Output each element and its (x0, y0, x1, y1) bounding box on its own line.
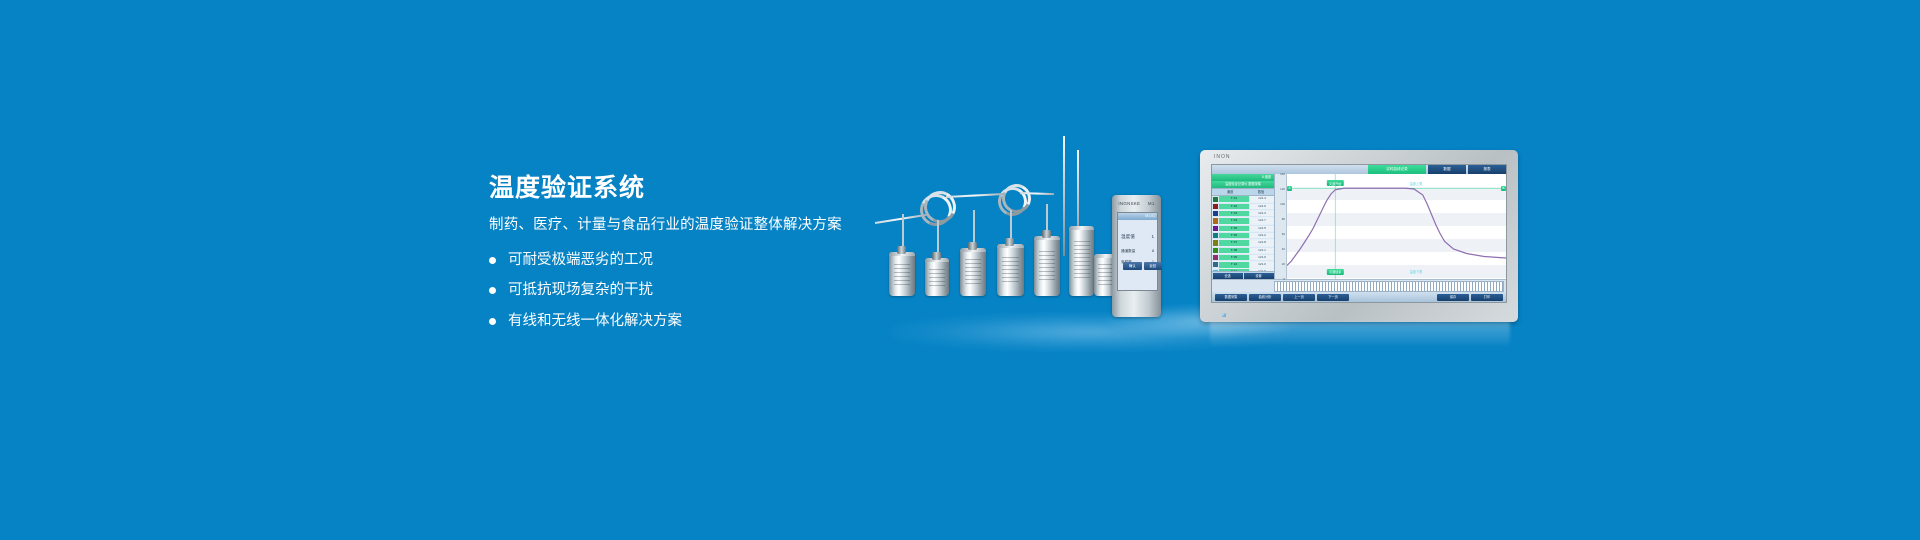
logger-label (1074, 241, 1090, 277)
channel-table-footer: 全选 设置 (1212, 271, 1274, 279)
data-logger-device (1069, 226, 1094, 296)
logger-cap (1005, 238, 1014, 246)
model-text: M1 (1148, 201, 1155, 206)
sensor-wire (875, 214, 927, 224)
table-row[interactable]: T 01121.4 (1212, 196, 1274, 203)
monitor-reflection (1210, 322, 1510, 348)
table-row[interactable]: T 03121.3 (1212, 211, 1274, 218)
sensor-wire (946, 193, 1004, 198)
handheld-button-row: 确认 返回 (1123, 262, 1162, 270)
handheld-readout-list: 温度值 1 通道数量 8 采样率 1 (1118, 220, 1157, 265)
software-body: 8 通道 温度验证记录仪 数据采集 通道 数值 T 01121.4T 02121… (1212, 174, 1506, 279)
channel-color-swatch (1213, 233, 1218, 238)
settings-button[interactable]: 设置 (1244, 273, 1274, 279)
feature-list: 可耐受极端恶劣的工况 可抵抗现场复杂的干扰 有线和无线一体化解决方案 (489, 252, 909, 330)
table-row[interactable]: T 02121.6 (1212, 203, 1274, 210)
channel-value-cell: 121.2 (1250, 233, 1274, 238)
data-logger-device (997, 244, 1024, 296)
monitor-screen: 实时曲线记录 数据 报表 8 通道 温度验证记录仪 数据采集 通道 数值 T 0… (1211, 164, 1507, 303)
tab-report[interactable]: 报表 (1468, 165, 1506, 174)
marker-point-b[interactable]: B (1501, 186, 1506, 191)
table-row[interactable]: T 09121.9 (1212, 254, 1274, 261)
channel-color-swatch (1213, 204, 1218, 209)
readout-label: 通道数量 (1121, 249, 1135, 254)
channel-value-cell: 121.0 (1250, 262, 1274, 267)
y-axis-tick: 100 (1280, 202, 1285, 206)
readout-value: 1 (1151, 234, 1154, 240)
channel-table-header: 8 通道 (1212, 174, 1274, 181)
feature-label: 有线和无线一体化解决方案 (508, 313, 682, 330)
channel-color-swatch (1213, 211, 1218, 216)
lower-limit-label: 温度下限 (1410, 269, 1423, 274)
channel-color-swatch (1213, 248, 1218, 253)
bullet-dot-icon (489, 287, 496, 294)
marker-point-a[interactable]: A (1287, 186, 1292, 191)
channel-value-cell: 121.6 (1250, 204, 1274, 209)
channel-value-cell: 121.5 (1250, 226, 1274, 231)
channel-color-swatch (1213, 218, 1218, 223)
y-axis-tick: 80 (1282, 217, 1285, 221)
list-item: 通道数量 8 (1121, 249, 1154, 254)
channel-value-cell: 121.4 (1250, 196, 1274, 201)
page-title: 温度验证系统 (489, 175, 909, 203)
plot-area[interactable]: 灭菌开始 灭菌结束 温度上限 温度下限 A B (1287, 174, 1506, 279)
channel-name-cell: T 10 (1219, 262, 1249, 267)
data-logger-device (960, 248, 986, 296)
logger-label (894, 262, 911, 285)
channel-color-swatch (1213, 262, 1218, 267)
upper-limit-label: 温度上限 (1410, 181, 1423, 186)
sterilization-end-marker[interactable]: 灭菌结束 (1327, 269, 1343, 275)
select-all-button[interactable]: 全选 (1213, 273, 1243, 279)
handheld-titlebar-label: M1-01 (1145, 214, 1155, 218)
channel-value-cell: 121.8 (1250, 240, 1274, 245)
channel-color-swatch (1213, 255, 1218, 260)
list-item: 有线和无线一体化解决方案 (489, 313, 909, 330)
table-row[interactable]: T 04121.7 (1212, 218, 1274, 225)
bullet-dot-icon (489, 257, 496, 264)
channel-table-columns: 通道 数值 (1212, 188, 1274, 196)
table-row[interactable]: T 08121.1 (1212, 247, 1274, 254)
data-logger-device (1034, 236, 1060, 296)
logger-cap (1042, 230, 1051, 238)
channel-value-cell: 121.3 (1250, 211, 1274, 216)
brand-text: INGNSKE (1118, 201, 1140, 206)
print-button[interactable]: 打印 (1471, 294, 1503, 301)
temperature-curve-svg (1287, 174, 1506, 279)
sterilization-start-marker[interactable]: 灭菌开始 (1327, 180, 1343, 186)
channel-name-cell: T 03 (1219, 211, 1249, 216)
channel-name-cell: T 07 (1219, 240, 1249, 245)
logger-label (965, 259, 982, 284)
readout-label: 温度值 (1121, 234, 1135, 240)
timeline-scrollbar[interactable] (1212, 279, 1506, 292)
table-row[interactable]: T 06121.2 (1212, 232, 1274, 239)
logger-cap (968, 242, 977, 250)
channel-table: 8 通道 温度验证记录仪 数据采集 通道 数值 T 01121.4T 02121… (1212, 174, 1275, 279)
y-axis-tick: 140 (1280, 172, 1285, 176)
handheld-titlebar: M1-01 (1118, 213, 1157, 220)
y-axis-tick: 40 (1282, 247, 1285, 251)
y-axis-tick: 20 (1282, 262, 1285, 266)
handheld-back-button[interactable]: 返回 (1144, 262, 1163, 270)
list-item: 温度值 1 (1121, 234, 1154, 240)
y-axis-tick: 120 (1280, 187, 1285, 191)
channel-table-rows: T 01121.4T 02121.6T 03121.3T 04121.7T 05… (1212, 196, 1274, 271)
channel-value-cell: 121.9 (1250, 255, 1274, 260)
bullet-dot-icon (489, 318, 496, 325)
list-item: 可耐受极端恶劣的工况 (489, 252, 909, 269)
logger-label (929, 266, 944, 286)
software-bottombar: 数据采集 曲线分析 上一页 下一页 保存 打印 (1212, 292, 1506, 302)
handheld-confirm-button[interactable]: 确认 (1123, 262, 1142, 270)
column-header-channel: 通道 (1212, 189, 1248, 195)
product-cluster: INGNSKE M1 M1-01 温度值 1 通道数量 8 (880, 130, 1520, 430)
channel-name-cell: T 06 (1219, 233, 1249, 238)
logger-cap (932, 252, 941, 260)
table-row[interactable]: T 10121.0 (1212, 262, 1274, 269)
channel-table-subtitle: 温度验证记录仪 数据采集 (1212, 181, 1274, 188)
channel-name-cell: T 05 (1219, 226, 1249, 231)
logger-label (1098, 263, 1113, 285)
table-row[interactable]: T 05121.5 (1212, 225, 1274, 232)
software-topbar: 实时曲线记录 数据 报表 (1212, 165, 1506, 174)
list-item: 可抵抗现场复杂的干扰 (489, 282, 909, 299)
handheld-brand-label: INGNSKE M1 (1112, 201, 1161, 206)
hero-banner: 温度验证系统 制药、医疗、计量与食品行业的温度验证整体解决方案 可耐受极端恶劣的… (0, 0, 1920, 540)
channel-color-swatch (1213, 226, 1218, 231)
channel-color-swatch (1213, 240, 1218, 245)
tab-realtime-curve[interactable]: 实时曲线记录 (1368, 165, 1426, 174)
channel-name-cell: T 08 (1219, 248, 1249, 253)
handheld-reader-device[interactable]: INGNSKE M1 M1-01 温度值 1 通道数量 8 (1112, 195, 1161, 317)
channel-name-cell: T 09 (1219, 255, 1249, 260)
monitor-brand-label: INON (1214, 154, 1231, 160)
handheld-screen: M1-01 温度值 1 通道数量 8 采样率 1 (1117, 212, 1158, 291)
channel-value-cell: 121.1 (1250, 248, 1274, 253)
topbar-spacer (1212, 165, 1368, 174)
y-axis: 020406080100120140 (1275, 174, 1287, 279)
monitor-device: INON 实时曲线记录 数据 报表 8 通道 温度验证记录仪 数据采集 通道 (1200, 150, 1518, 322)
channel-name-cell: T 02 (1219, 204, 1249, 209)
save-button[interactable]: 保存 (1437, 294, 1469, 301)
chart-panel: 020406080100120140 灭菌开始 灭菌结 (1275, 174, 1506, 279)
y-axis-tick: 60 (1282, 232, 1285, 236)
needle-probe-icon (1063, 136, 1065, 256)
data-collect-button[interactable]: 数据采集 (1215, 294, 1247, 301)
channel-name-cell: T 04 (1219, 218, 1249, 223)
channel-name-cell: T 01 (1219, 196, 1249, 201)
timeline-ticks[interactable] (1274, 281, 1504, 292)
table-row[interactable]: T 07121.8 (1212, 240, 1274, 247)
tab-data[interactable]: 数据 (1428, 165, 1466, 174)
hero-copy: 温度验证系统 制药、医疗、计量与食品行业的温度验证整体解决方案 可耐受极端恶劣的… (489, 175, 909, 343)
column-header-value: 数值 (1248, 189, 1274, 195)
data-logger-device (925, 258, 949, 296)
readout-value: 8 (1152, 249, 1154, 254)
next-page-button[interactable]: 下一页 (1317, 294, 1349, 301)
logger-label (1039, 249, 1056, 280)
logger-label (1002, 255, 1019, 282)
prev-page-button[interactable]: 上一页 (1283, 294, 1315, 301)
y-axis-tick: 0 (1283, 277, 1285, 281)
logger-cap (897, 246, 906, 254)
feature-label: 可抵抗现场复杂的干扰 (508, 282, 653, 299)
data-logger-device (889, 252, 915, 296)
hero-subtitle: 制药、医疗、计量与食品行业的温度验证整体解决方案 (489, 217, 909, 234)
curve-analysis-button[interactable]: 曲线分析 (1249, 294, 1281, 301)
power-indicator-icon (1222, 313, 1226, 317)
feature-label: 可耐受极端恶劣的工况 (508, 252, 653, 269)
channel-color-swatch (1213, 197, 1218, 202)
channel-value-cell: 121.7 (1250, 218, 1274, 223)
